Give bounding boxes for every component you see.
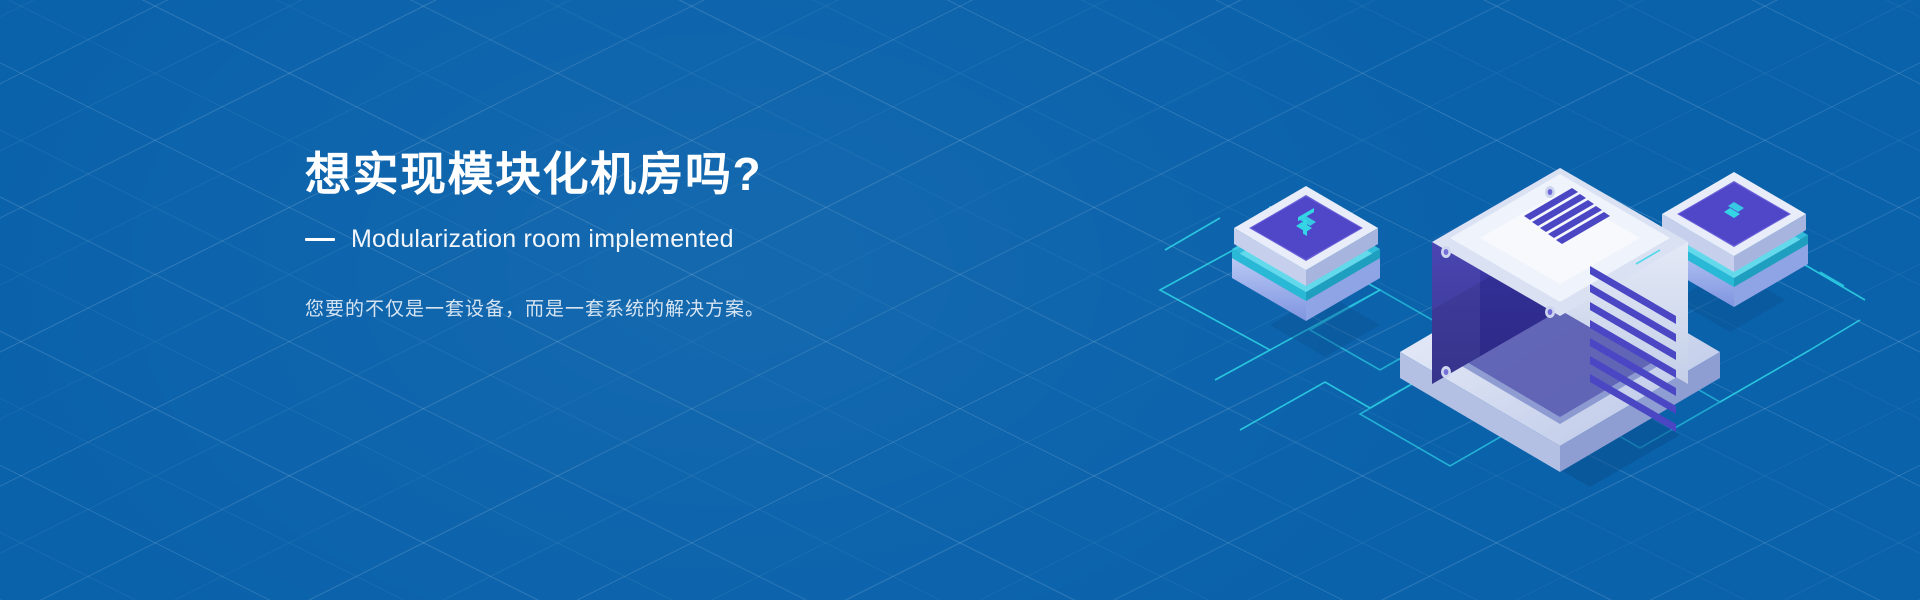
dash-accent-icon [305, 238, 335, 241]
banner-subheadline: Modularization room implemented [351, 225, 734, 254]
banner-subheadline-row: Modularization room implemented [305, 225, 945, 254]
banner-description: 您要的不仅是一套设备，而是一套系统的解决方案。 [305, 296, 945, 325]
isometric-server-illustration [1120, 0, 1920, 600]
banner-headline: 想实现模块化机房吗? [305, 148, 945, 201]
banner-copy: 想实现模块化机房吗? Modularization room implement… [305, 148, 945, 325]
hero-banner: 想实现模块化机房吗? Modularization room implement… [0, 0, 1920, 600]
chip-module-left-icon [1232, 186, 1380, 321]
